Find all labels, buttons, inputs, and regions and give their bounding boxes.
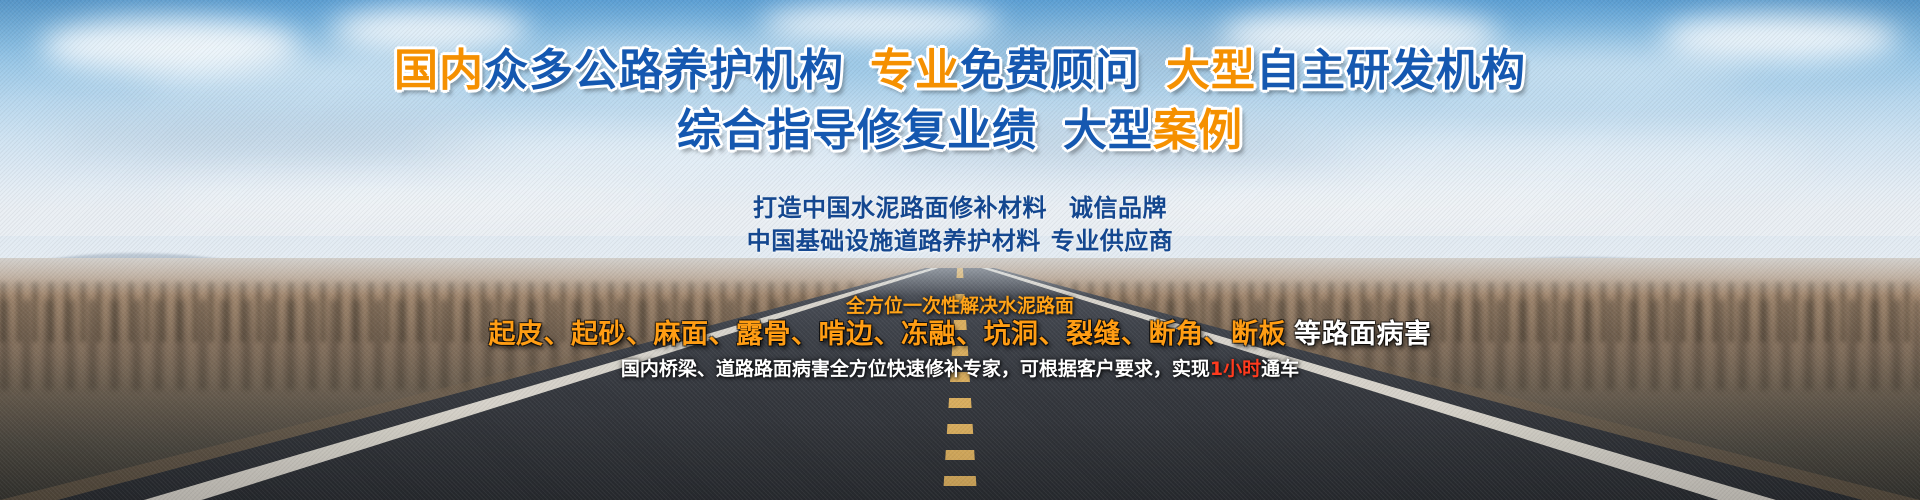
headline-seg-daxing: 大型 [1166, 45, 1256, 96]
subtitle-2-main: 中国基础设施道路养护材料 [747, 227, 1041, 255]
headline-seg-guonei: 国内 [394, 45, 484, 96]
headline-seg-zonghezhidao: 综合指导修复业绩 [677, 105, 1037, 156]
headline-seg-zhongduo: 众多公路养护机构 [484, 45, 844, 96]
headline-seg-zhuanye: 专业 [870, 45, 960, 96]
road-text-line-2: 起皮、起砂、麻面、露骨、啃边、冻融、坑洞、裂缝、断角、断板等路面病害 [0, 318, 1920, 352]
headline-line-1: 国内众多公路养护机构专业免费顾问大型自主研发机构 [0, 44, 1920, 98]
road-line3-highlight: 1小时 [1210, 358, 1261, 380]
headline-line-2: 综合指导修复业绩大型案例 [0, 104, 1920, 158]
subtitle-line-1: 打造中国水泥路面修补材料诚信品牌 [0, 192, 1920, 224]
road-text-line-3: 国内桥梁、道路路面病害全方位快速修补专家，可根据客户要求，实现1小时通车 [0, 356, 1920, 382]
headline-seg-daxing-2: 大型 [1063, 105, 1153, 156]
road-defect-tail: 等路面病害 [1294, 319, 1432, 350]
headline-seg-mianfeiguwen: 免费顾问 [960, 45, 1140, 96]
road-defect-list: 起皮、起砂、麻面、露骨、啃边、冻融、坑洞、裂缝、断角、断板 [489, 319, 1287, 350]
subtitle-2-tail: 专业供应商 [1051, 227, 1174, 255]
promotional-banner: 国内众多公路养护机构专业免费顾问大型自主研发机构 综合指导修复业绩大型案例 打造… [0, 0, 1920, 500]
road-line3-suffix: 通车 [1261, 358, 1299, 380]
subtitle-1-tail: 诚信品牌 [1069, 194, 1167, 222]
headline-seg-zizhuyanfa: 自主研发机构 [1256, 45, 1526, 96]
subtitle-line-2: 中国基础设施道路养护材料专业供应商 [0, 225, 1920, 257]
headline-seg-anli: 案例 [1153, 105, 1243, 156]
road-text-line-1: 全方位一次性解决水泥路面 [0, 294, 1920, 318]
banner-content: 国内众多公路养护机构专业免费顾问大型自主研发机构 综合指导修复业绩大型案例 打造… [0, 0, 1920, 500]
road-line3-prefix: 国内桥梁、道路路面病害全方位快速修补专家，可根据客户要求，实现 [621, 358, 1210, 380]
subtitle-1-main: 打造中国水泥路面修补材料 [753, 194, 1047, 222]
